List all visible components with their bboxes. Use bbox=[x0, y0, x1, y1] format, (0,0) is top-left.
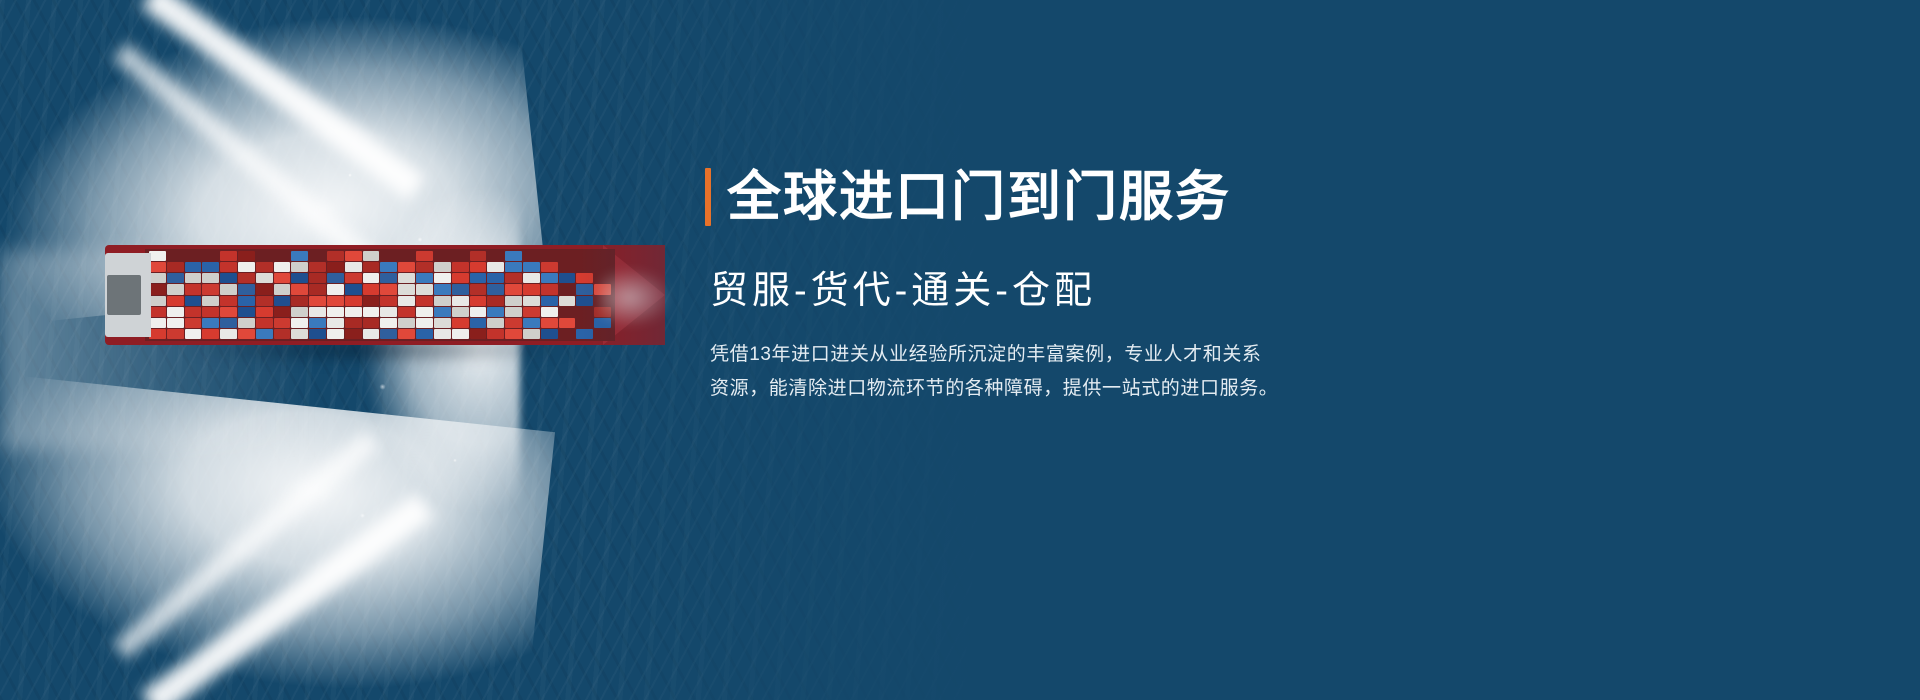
description-line-1: 凭借13年进口进关从业经验所沉淀的丰富案例，专业人才和关系 bbox=[710, 338, 1410, 372]
container-block bbox=[202, 307, 219, 317]
container-block bbox=[274, 262, 291, 272]
container-block bbox=[220, 329, 237, 339]
container-block bbox=[238, 296, 255, 306]
container-block bbox=[291, 284, 308, 294]
container-block bbox=[380, 251, 397, 261]
container-block bbox=[291, 251, 308, 261]
description: 凭借13年进口进关从业经验所沉淀的丰富案例，专业人才和关系 资源，能清除进口物流… bbox=[710, 338, 1410, 406]
container-block bbox=[202, 251, 219, 261]
container-block bbox=[380, 284, 397, 294]
container-block bbox=[238, 307, 255, 317]
shipping-containers bbox=[149, 251, 611, 339]
container-block bbox=[541, 318, 558, 328]
container-block bbox=[487, 318, 504, 328]
container-block bbox=[309, 251, 326, 261]
container-block bbox=[291, 329, 308, 339]
container-block bbox=[505, 296, 522, 306]
container-block bbox=[327, 329, 344, 339]
container-block bbox=[309, 318, 326, 328]
container-block bbox=[256, 284, 273, 294]
container-block bbox=[185, 307, 202, 317]
container-block bbox=[220, 273, 237, 283]
container-block bbox=[434, 284, 451, 294]
container-block bbox=[202, 296, 219, 306]
container-block bbox=[309, 329, 326, 339]
container-block bbox=[327, 284, 344, 294]
container-block bbox=[327, 296, 344, 306]
container-block bbox=[505, 262, 522, 272]
container-block bbox=[505, 329, 522, 339]
container-block bbox=[487, 273, 504, 283]
container-block bbox=[434, 307, 451, 317]
container-block bbox=[363, 296, 380, 306]
container-block bbox=[274, 273, 291, 283]
container-block bbox=[452, 273, 469, 283]
container-block bbox=[487, 329, 504, 339]
container-block bbox=[363, 251, 380, 261]
container-block bbox=[256, 251, 273, 261]
container-block bbox=[274, 284, 291, 294]
container-block bbox=[505, 307, 522, 317]
hero-banner: 全球进口门到门服务 贸服-货代-通关-仓配 凭借13年进口进关从业经验所沉淀的丰… bbox=[0, 0, 1920, 700]
container-block bbox=[291, 262, 308, 272]
ship-bridge bbox=[107, 275, 141, 315]
container-block bbox=[256, 296, 273, 306]
container-block bbox=[470, 262, 487, 272]
container-block bbox=[559, 296, 576, 306]
container-block bbox=[398, 318, 415, 328]
container-block bbox=[505, 284, 522, 294]
container-block bbox=[149, 329, 166, 339]
container-block bbox=[541, 296, 558, 306]
container-block bbox=[345, 284, 362, 294]
container-block bbox=[523, 329, 540, 339]
container-block bbox=[523, 307, 540, 317]
container-block bbox=[220, 307, 237, 317]
subtitle: 贸服-货代-通关-仓配 bbox=[710, 272, 1096, 310]
container-block bbox=[185, 251, 202, 261]
container-block bbox=[434, 318, 451, 328]
container-block bbox=[416, 307, 433, 317]
container-block bbox=[380, 273, 397, 283]
container-block bbox=[167, 251, 184, 261]
container-block bbox=[345, 318, 362, 328]
container-block bbox=[380, 262, 397, 272]
container-block bbox=[452, 262, 469, 272]
container-block bbox=[398, 284, 415, 294]
container-block bbox=[470, 296, 487, 306]
container-block bbox=[238, 284, 255, 294]
container-block bbox=[434, 273, 451, 283]
container-block bbox=[559, 329, 576, 339]
container-block bbox=[434, 262, 451, 272]
banner-content: 全球进口门到门服务 贸服-货代-通关-仓配 凭借13年进口进关从业经验所沉淀的丰… bbox=[705, 0, 1825, 700]
container-block bbox=[256, 329, 273, 339]
container-block bbox=[202, 284, 219, 294]
container-block bbox=[363, 307, 380, 317]
container-block bbox=[523, 262, 540, 272]
container-block bbox=[309, 307, 326, 317]
container-block bbox=[149, 262, 166, 272]
container-block bbox=[167, 284, 184, 294]
container-block bbox=[452, 251, 469, 261]
container-block bbox=[185, 329, 202, 339]
container-block bbox=[434, 329, 451, 339]
container-block bbox=[291, 307, 308, 317]
container-block bbox=[274, 251, 291, 261]
container-block bbox=[416, 296, 433, 306]
container-block bbox=[291, 273, 308, 283]
container-block bbox=[541, 284, 558, 294]
container-block bbox=[345, 251, 362, 261]
container-block bbox=[309, 296, 326, 306]
container-block bbox=[220, 296, 237, 306]
container-block bbox=[398, 329, 415, 339]
container-block bbox=[220, 262, 237, 272]
container-block bbox=[559, 318, 576, 328]
container-block bbox=[487, 251, 504, 261]
container-block bbox=[363, 329, 380, 339]
container-block bbox=[274, 296, 291, 306]
container-block bbox=[559, 307, 576, 317]
container-block bbox=[256, 307, 273, 317]
container-block bbox=[167, 262, 184, 272]
container-block bbox=[398, 262, 415, 272]
container-block bbox=[470, 318, 487, 328]
container-block bbox=[416, 273, 433, 283]
container-block bbox=[470, 273, 487, 283]
container-block bbox=[523, 284, 540, 294]
container-block bbox=[452, 329, 469, 339]
container-block bbox=[167, 273, 184, 283]
container-block bbox=[291, 318, 308, 328]
container-block bbox=[523, 296, 540, 306]
container-block bbox=[149, 296, 166, 306]
container-block bbox=[238, 329, 255, 339]
container-block bbox=[380, 296, 397, 306]
container-block bbox=[559, 273, 576, 283]
container-block bbox=[398, 273, 415, 283]
container-block bbox=[202, 329, 219, 339]
description-line-2: 资源，能清除进口物流环节的各种障碍，提供一站式的进口服务。 bbox=[710, 372, 1410, 406]
container-block bbox=[149, 251, 166, 261]
container-block bbox=[309, 273, 326, 283]
container-block bbox=[541, 262, 558, 272]
container-block bbox=[523, 318, 540, 328]
container-block bbox=[220, 318, 237, 328]
container-block bbox=[327, 262, 344, 272]
container-block bbox=[363, 262, 380, 272]
container-block bbox=[505, 273, 522, 283]
container-block bbox=[256, 318, 273, 328]
container-block bbox=[380, 329, 397, 339]
container-block bbox=[380, 318, 397, 328]
page-title: 全球进口门到门服务 bbox=[727, 170, 1231, 224]
container-block bbox=[309, 284, 326, 294]
container-block bbox=[470, 284, 487, 294]
container-block bbox=[274, 329, 291, 339]
container-block bbox=[256, 262, 273, 272]
container-block bbox=[452, 284, 469, 294]
container-block bbox=[202, 318, 219, 328]
container-block bbox=[452, 318, 469, 328]
container-block bbox=[238, 251, 255, 261]
container-block bbox=[416, 262, 433, 272]
container-block bbox=[505, 251, 522, 261]
container-block bbox=[149, 307, 166, 317]
container-block bbox=[416, 251, 433, 261]
container-block bbox=[327, 251, 344, 261]
container-block bbox=[470, 251, 487, 261]
container-block bbox=[185, 318, 202, 328]
container-block bbox=[274, 307, 291, 317]
container-block bbox=[327, 318, 344, 328]
container-block bbox=[559, 262, 576, 272]
container-block bbox=[345, 307, 362, 317]
container-block bbox=[202, 273, 219, 283]
container-block bbox=[167, 307, 184, 317]
container-block bbox=[398, 251, 415, 261]
container-block bbox=[487, 307, 504, 317]
container-block bbox=[487, 284, 504, 294]
container-block bbox=[185, 273, 202, 283]
container-block bbox=[167, 329, 184, 339]
container-block bbox=[416, 318, 433, 328]
container-block bbox=[398, 296, 415, 306]
container-block bbox=[523, 273, 540, 283]
container-block bbox=[238, 318, 255, 328]
container-block bbox=[149, 284, 166, 294]
container-block bbox=[559, 251, 576, 261]
container-block bbox=[167, 296, 184, 306]
container-block bbox=[416, 284, 433, 294]
container-block bbox=[470, 307, 487, 317]
container-block bbox=[363, 284, 380, 294]
container-block bbox=[487, 262, 504, 272]
headline-row: 全球进口门到门服务 bbox=[705, 168, 1231, 226]
container-block bbox=[185, 296, 202, 306]
container-block bbox=[541, 251, 558, 261]
container-block bbox=[505, 318, 522, 328]
container-block bbox=[541, 273, 558, 283]
container-block bbox=[345, 262, 362, 272]
container-block bbox=[149, 318, 166, 328]
container-block bbox=[434, 251, 451, 261]
container-block bbox=[309, 262, 326, 272]
container-block bbox=[345, 296, 362, 306]
container-block bbox=[487, 296, 504, 306]
container-block bbox=[185, 284, 202, 294]
container-block bbox=[167, 318, 184, 328]
container-block bbox=[452, 307, 469, 317]
container-block bbox=[541, 307, 558, 317]
container-block bbox=[220, 251, 237, 261]
container-block bbox=[238, 273, 255, 283]
container-block bbox=[345, 273, 362, 283]
container-block bbox=[434, 296, 451, 306]
container-block bbox=[185, 262, 202, 272]
container-block bbox=[149, 273, 166, 283]
container-block bbox=[202, 262, 219, 272]
container-block bbox=[327, 273, 344, 283]
container-block bbox=[559, 284, 576, 294]
container-block bbox=[274, 318, 291, 328]
container-block bbox=[363, 273, 380, 283]
container-block bbox=[327, 307, 344, 317]
container-block bbox=[541, 329, 558, 339]
container-block bbox=[220, 284, 237, 294]
container-block bbox=[452, 296, 469, 306]
container-block bbox=[291, 296, 308, 306]
container-block bbox=[363, 318, 380, 328]
container-block bbox=[256, 273, 273, 283]
container-block bbox=[470, 329, 487, 339]
accent-bar-icon bbox=[705, 168, 711, 226]
container-block bbox=[380, 307, 397, 317]
container-block bbox=[238, 262, 255, 272]
container-block bbox=[416, 329, 433, 339]
container-block bbox=[345, 329, 362, 339]
container-block bbox=[523, 251, 540, 261]
container-block bbox=[398, 307, 415, 317]
